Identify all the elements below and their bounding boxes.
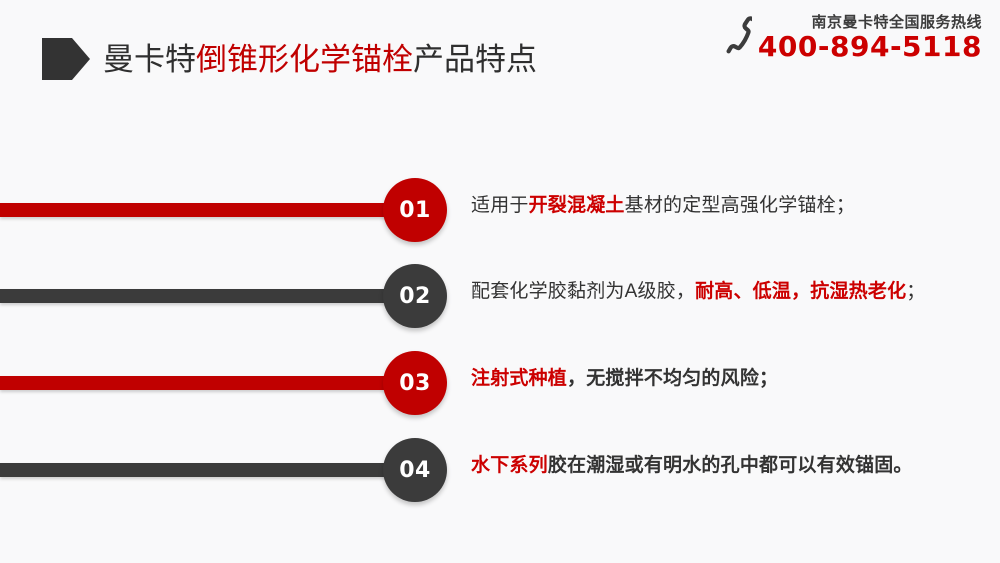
feature-number-badge[interactable]: 04: [383, 438, 447, 502]
feature-number-badge[interactable]: 03: [383, 351, 447, 415]
feature-number-label: 01: [399, 198, 431, 223]
slide-canvas: 曼卡特倒锥形化学锚栓产品特点 南京曼卡特全国服务热线 400-894-5118: [0, 0, 1000, 563]
feature-text-before: 适用于: [471, 195, 529, 216]
feature-number-label: 02: [399, 284, 431, 309]
feature-text-after: ，无搅拌不均匀的风险；: [567, 368, 778, 389]
feature-text-highlight: 水下系列: [471, 455, 548, 476]
feature-text: 适用于开裂混凝土基材的定型高强化学锚栓；: [471, 192, 855, 220]
feature-row: 01 适用于开裂混凝土基材的定型高强化学锚栓；: [0, 170, 1000, 250]
feature-text-highlight: 开裂混凝土: [529, 195, 625, 216]
feature-text-after: 基材的定型高强化学锚栓；: [625, 195, 855, 216]
feature-list: 01 适用于开裂混凝土基材的定型高强化学锚栓； 02 配套化学胶黏剂为A级胶，耐…: [0, 0, 1000, 563]
feature-text-highlight: 注射式种植: [471, 368, 567, 389]
feature-text-after: 胶在潮湿或有明水的孔中都可以有效锚固。: [548, 455, 913, 476]
feature-number-label: 03: [399, 371, 431, 396]
feature-text-after: ；: [906, 281, 925, 302]
feature-text: 配套化学胶黏剂为A级胶，耐高、低温，抗湿热老化；: [471, 278, 925, 306]
feature-number-label: 04: [399, 458, 431, 483]
feature-bar: [0, 376, 415, 390]
feature-row: 03 注射式种植，无搅拌不均匀的风险；: [0, 343, 1000, 423]
feature-bar: [0, 463, 415, 477]
feature-bar: [0, 203, 415, 217]
feature-row: 02 配套化学胶黏剂为A级胶，耐高、低温，抗湿热老化；: [0, 256, 1000, 336]
feature-text-highlight: 耐高、低温，抗湿热老化: [695, 281, 906, 302]
feature-number-badge[interactable]: 01: [383, 178, 447, 242]
feature-bar: [0, 289, 415, 303]
feature-text: 注射式种植，无搅拌不均匀的风险；: [471, 365, 778, 393]
feature-number-badge[interactable]: 02: [383, 264, 447, 328]
feature-text: 水下系列胶在潮湿或有明水的孔中都可以有效锚固。: [471, 452, 913, 480]
feature-text-before: 配套化学胶黏剂为A级胶，: [471, 281, 695, 302]
feature-row: 04 水下系列胶在潮湿或有明水的孔中都可以有效锚固。: [0, 430, 1000, 510]
